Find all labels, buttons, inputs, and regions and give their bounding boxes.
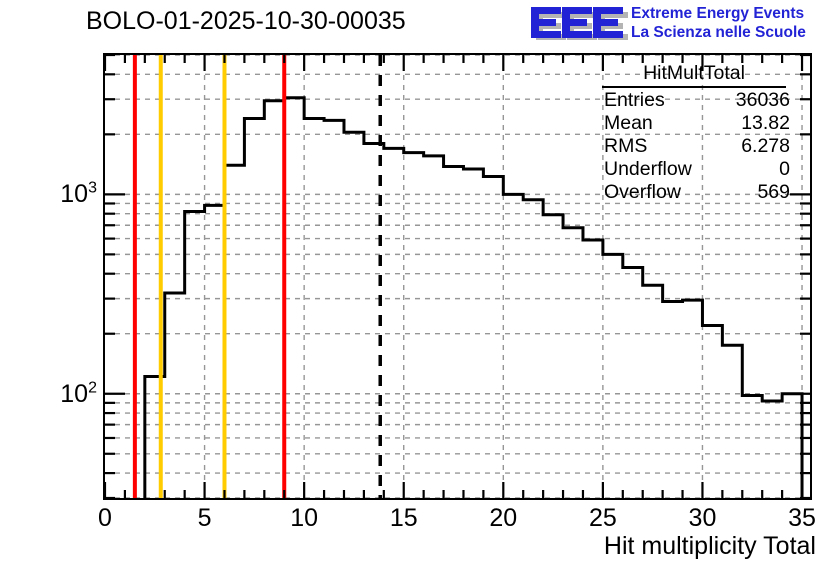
x-axis-title: Hit multiplicity Total <box>604 531 816 561</box>
stats-row: RMS6.278 <box>596 135 792 158</box>
stats-row-key: Overflow <box>604 181 681 204</box>
stats-rows: Entries36036Mean13.82RMS6.278Underflow0O… <box>596 89 792 204</box>
x-tick-label: 20 <box>489 504 517 532</box>
stats-row-key: Underflow <box>604 158 692 181</box>
page-title: BOLO-01-2025-10-30-00035 <box>86 6 406 36</box>
x-tick-label: 30 <box>689 504 717 532</box>
x-tick-label: 25 <box>589 504 617 532</box>
y-tick-label: 103 <box>60 180 97 208</box>
eee-logo: Extreme Energy Events La Scienza nelle S… <box>529 3 833 45</box>
stats-box: HitMultTotal Entries36036Mean13.82RMS6.2… <box>596 62 792 204</box>
eee-logo-line1: Extreme Energy Events <box>631 4 833 23</box>
y-tick-label: 102 <box>60 380 97 408</box>
x-tick-label: 5 <box>198 504 212 532</box>
x-tick-label: 35 <box>788 504 816 532</box>
eee-logo-mark-icon <box>529 3 629 43</box>
stats-row-key: RMS <box>604 135 647 158</box>
stats-row-value: 36036 <box>736 89 790 112</box>
stats-row: Entries36036 <box>596 89 792 112</box>
x-tick-label: 0 <box>98 504 112 532</box>
stats-row-value: 13.82 <box>741 112 790 135</box>
stats-title: HitMultTotal <box>602 62 786 88</box>
stats-row-key: Entries <box>604 89 665 112</box>
x-tick-label: 10 <box>290 504 318 532</box>
eee-logo-text: Extreme Energy Events La Scienza nelle S… <box>631 4 833 44</box>
stats-row: Underflow0 <box>596 158 792 181</box>
stats-row-value: 0 <box>779 158 790 181</box>
stats-row: Mean13.82 <box>596 112 792 135</box>
eee-logo-line2: La Scienza nelle Scuole <box>631 23 833 42</box>
stats-row-value: 6.278 <box>741 135 790 158</box>
stats-row: Overflow569 <box>596 181 792 204</box>
root-canvas: BOLO-01-2025-10-30-00035 <box>0 0 836 572</box>
stats-row-value: 569 <box>757 181 790 204</box>
x-tick-label: 15 <box>390 504 418 532</box>
stats-row-key: Mean <box>604 112 653 135</box>
